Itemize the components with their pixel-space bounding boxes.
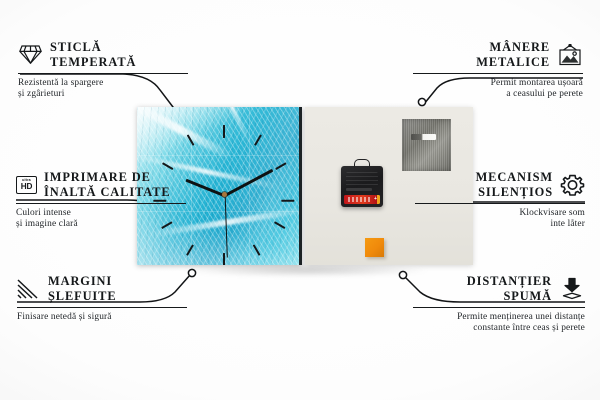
callout-subtitle-line: Permit montarea ușoară [491, 78, 583, 88]
callout-title-line: SPUMĂ [503, 289, 552, 303]
callout-divider [17, 307, 187, 308]
callout-title-line: DISTANȚIER [467, 274, 552, 288]
metal-hanger-plate [402, 119, 451, 171]
callout-subtitle-line: Rezistentă la spargere [18, 78, 103, 88]
callout-subtitle-line: Klockvisare som [519, 208, 585, 218]
callout-subtitle-line: Permite menținerea unei distanțe [457, 312, 585, 322]
infographic-canvas: + STICLĂ TEMPERATĂ Rezistentă la spar [0, 0, 600, 400]
battery-label [348, 197, 371, 202]
callout-silent-mechanism: MECANISM SILENȚIOS Klockvisare som inte … [415, 170, 585, 231]
ultra-hd-icon: ultra HD [16, 176, 37, 194]
diamond-icon [18, 44, 43, 65]
hour-tick [223, 253, 225, 265]
callout-title-line: TEMPERATĂ [50, 55, 136, 69]
callout-tempered-glass: STICLĂ TEMPERATĂ Rezistentă la spargere … [18, 40, 188, 101]
hd-badge-small: ultra [22, 178, 31, 182]
clock-hub [222, 192, 227, 197]
callout-subtitle-line: Finisare netedă și sigură [17, 312, 112, 322]
callout-subtitle-line: inte låter [550, 219, 585, 229]
callout-subtitle: Permite menținerea unei distanțe constan… [413, 312, 585, 335]
callout-subtitle-line: și zgârieturi [18, 89, 64, 99]
mechanism-hook [354, 159, 370, 168]
battery: + [344, 195, 380, 204]
callout-divider [415, 203, 585, 204]
callout-title: STICLĂ TEMPERATĂ [18, 40, 188, 69]
callout-subtitle-line: constante între ceas și perete [473, 323, 585, 333]
callout-title-line: METALICE [476, 55, 550, 69]
callout-title-line: IMPRIMARE DE [44, 170, 151, 184]
diagonal-lines-icon [17, 278, 41, 299]
callout-divider [413, 307, 585, 308]
hour-tick [281, 200, 294, 202]
callout-title-line: SILENȚIOS [478, 185, 553, 199]
hd-badge-large: HD [21, 182, 32, 191]
callout-metal-handles: MÂNERE METALICE Permit montarea ușoară a… [413, 40, 583, 101]
callout-subtitle-line: Culori intense [16, 208, 71, 218]
battery-plus-icon: + [373, 197, 378, 202]
callout-title: MARGINI ȘLEFUITE [17, 274, 187, 303]
callout-subtitle: Finisare netedă și sigură [17, 312, 187, 323]
callout-polished-edges: MARGINI ȘLEFUITE Finisare netedă și sigu… [17, 274, 187, 323]
picture-frame-icon [557, 44, 583, 66]
callout-title-line: MECANISM [476, 170, 553, 184]
callout-subtitle-line: și imagine clară [16, 219, 78, 229]
gear-icon [560, 173, 585, 197]
callout-title: MÂNERE METALICE [413, 40, 583, 69]
callout-title-line: MARGINI [48, 274, 112, 288]
down-arrow-stack-icon [559, 277, 585, 300]
callout-subtitle: Rezistentă la spargere și zgârieturi [18, 78, 188, 101]
hanger-keyhole-slot [411, 134, 436, 140]
mechanism-texture [346, 172, 378, 186]
callout-divider [413, 73, 583, 74]
callout-subtitle: Permit montarea ușoară a ceasului pe per… [413, 78, 583, 101]
callout-title-line: ȘLEFUITE [48, 289, 117, 303]
callout-subtitle: Culori intense și imagine clară [16, 208, 186, 231]
foam-spacer-pad [365, 238, 384, 257]
callout-foam-spacer: DISTANȚIER SPUMĂ Permite menținerea unei… [413, 274, 585, 335]
callout-title-line: ÎNALTĂ CALITATE [44, 185, 171, 199]
callout-subtitle-line: a ceasului pe perete [506, 89, 583, 99]
hour-tick [223, 125, 225, 138]
callout-high-quality-print: ultra HD IMPRIMARE DE ÎNALTĂ CALITATE Cu… [16, 170, 186, 231]
callout-title: DISTANȚIER SPUMĂ [413, 274, 585, 303]
callout-title: ultra HD IMPRIMARE DE ÎNALTĂ CALITATE [16, 170, 186, 199]
callout-subtitle: Klockvisare som inte låter [415, 208, 585, 231]
callout-divider [18, 73, 188, 74]
callout-title-line: MÂNERE [490, 40, 550, 54]
quartz-mechanism: + [341, 166, 383, 207]
mechanism-bar [346, 188, 372, 191]
callout-title-line: STICLĂ [50, 40, 102, 54]
callout-title: MECANISM SILENȚIOS [415, 170, 585, 199]
callout-divider [16, 203, 186, 204]
